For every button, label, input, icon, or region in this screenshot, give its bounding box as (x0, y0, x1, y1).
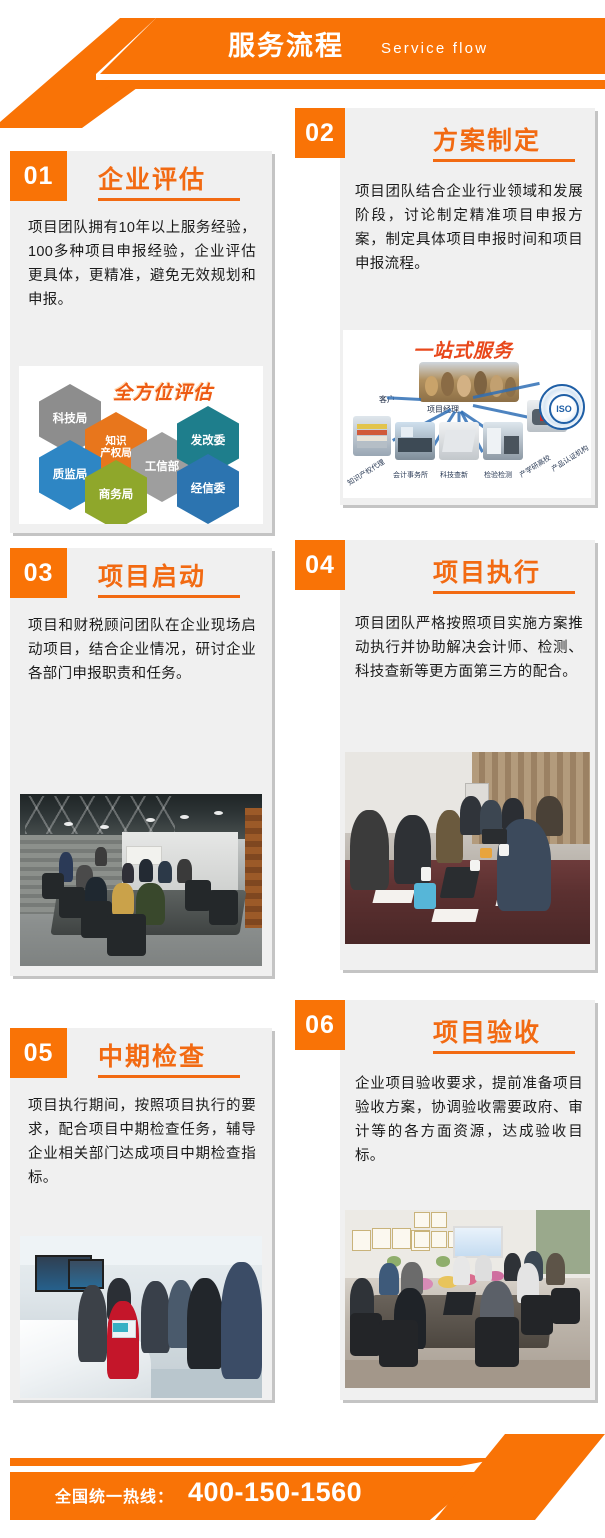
card-05-photo (20, 1236, 262, 1398)
card-01-title: 企业评估 (98, 160, 206, 196)
one-stop-node-search (439, 422, 479, 460)
card-05-title-underline (98, 1075, 240, 1078)
card-06-photo (345, 1210, 590, 1388)
one-stop-node-accounting (395, 422, 435, 460)
page-footer: 全国统一热线： 400-150-1560 (0, 1420, 605, 1538)
one-stop-label-5: 产品认证机构 (550, 443, 591, 474)
card-05: 05 中期检查 项目执行期间，按照项目执行的要求，配合项目中期检查任务，辅导企业… (10, 1028, 282, 1410)
hotline-number: 400-150-1560 (188, 1477, 362, 1508)
one-stop-node-inspection (483, 422, 523, 460)
hex-diagram-title: 全方位评估 (113, 378, 213, 405)
card-06: 06 项目验收 企业项目验收要求，提前准备项目验收方案，协调验收需要政府、审计等… (295, 1000, 595, 1410)
card-01-number-badge: 01 (10, 151, 67, 201)
card-04: 04 项目执行 项目团队严格按照项目实施方案推动执行并协助解决会计师、检测、科技… (295, 540, 595, 978)
card-05-number-badge: 05 (10, 1028, 67, 1078)
card-02-body: 项目团队结合企业行业领域和发展阶段，讨论制定精准项目申报方案，制定具体项目申报时… (355, 180, 583, 276)
card-04-title-underline (433, 591, 575, 594)
one-stop-label-0: 知识产权代理 (346, 457, 387, 488)
card-01-title-underline (98, 198, 240, 201)
card-03-title: 项目启动 (98, 557, 206, 593)
card-06-body: 企业项目验收要求，提前准备项目验收方案，协调验收需要政府、审计等的各方面资源，达… (355, 1072, 583, 1168)
one-stop-diagram: 一站式服务 客户 项目经理 (343, 330, 591, 498)
page-title: 服务流程 (228, 28, 344, 65)
card-02-title-underline (433, 159, 575, 162)
page-header: 服务流程 Service flow (0, 0, 605, 105)
card-01-body: 项目团队拥有10年以上服务经验，100多种项目申报经验，企业评估更具体，更精准，… (28, 216, 256, 312)
certification-seal-icon: ISO (539, 384, 585, 430)
infographic-page: 服务流程 Service flow 01 企业评估 项目团队拥有10年以上服务经… (0, 0, 605, 1538)
one-stop-label-2: 科技查新 (440, 470, 468, 480)
card-04-title: 项目执行 (433, 553, 541, 589)
card-04-number-badge: 04 (295, 540, 345, 590)
card-03: 03 项目启动 项目和财税顾问团队在企业现场启动项目，结合企业情况，研讨企业各部… (10, 548, 282, 986)
card-06-title: 项目验收 (433, 1013, 541, 1049)
card-04-photo (345, 752, 590, 944)
card-02-title: 方案制定 (433, 121, 541, 157)
hex-diagram: 全方位评估 科技局 知识 产权局 质监局 工信部 商务局 发改委 经信委 (19, 366, 263, 524)
one-stop-label-1: 会计事务所 (393, 470, 428, 480)
hotline-label: 全国统一热线： (55, 1483, 174, 1507)
card-02: 02 方案制定 项目团队结合企业行业领域和发展阶段，讨论制定精准项目申报方案，制… (295, 108, 595, 508)
card-03-body: 项目和财税顾问团队在企业现场启动项目，结合企业情况，研讨企业各部门申报职责和任务… (28, 614, 256, 686)
seal-text: ISO (549, 394, 580, 425)
one-stop-label-3: 检验检测 (484, 470, 512, 480)
one-stop-title: 一站式服务 (413, 336, 513, 363)
page-subtitle: Service flow (381, 38, 488, 60)
card-05-body: 项目执行期间，按照项目执行的要求，配合项目中期检查任务，辅导企业相关部门达成项目… (28, 1094, 256, 1190)
card-06-title-underline (433, 1051, 575, 1054)
one-stop-node-ip (353, 416, 391, 456)
one-stop-center-photo (419, 362, 519, 402)
arrow-7 (473, 404, 534, 420)
card-03-photo (20, 794, 262, 966)
card-05-title: 中期检查 (98, 1037, 206, 1073)
card-06-number-badge: 06 (295, 1000, 345, 1050)
card-04-body: 项目团队严格按照项目实施方案推动执行并协助解决会计师、检测、科技查新等更方面第三… (355, 612, 583, 684)
card-01: 01 企业评估 项目团队拥有10年以上服务经验，100多种项目申报经验，企业评估… (10, 108, 282, 500)
card-03-title-underline (98, 595, 240, 598)
card-03-number-badge: 03 (10, 548, 67, 598)
card-02-number-badge: 02 (295, 108, 345, 158)
